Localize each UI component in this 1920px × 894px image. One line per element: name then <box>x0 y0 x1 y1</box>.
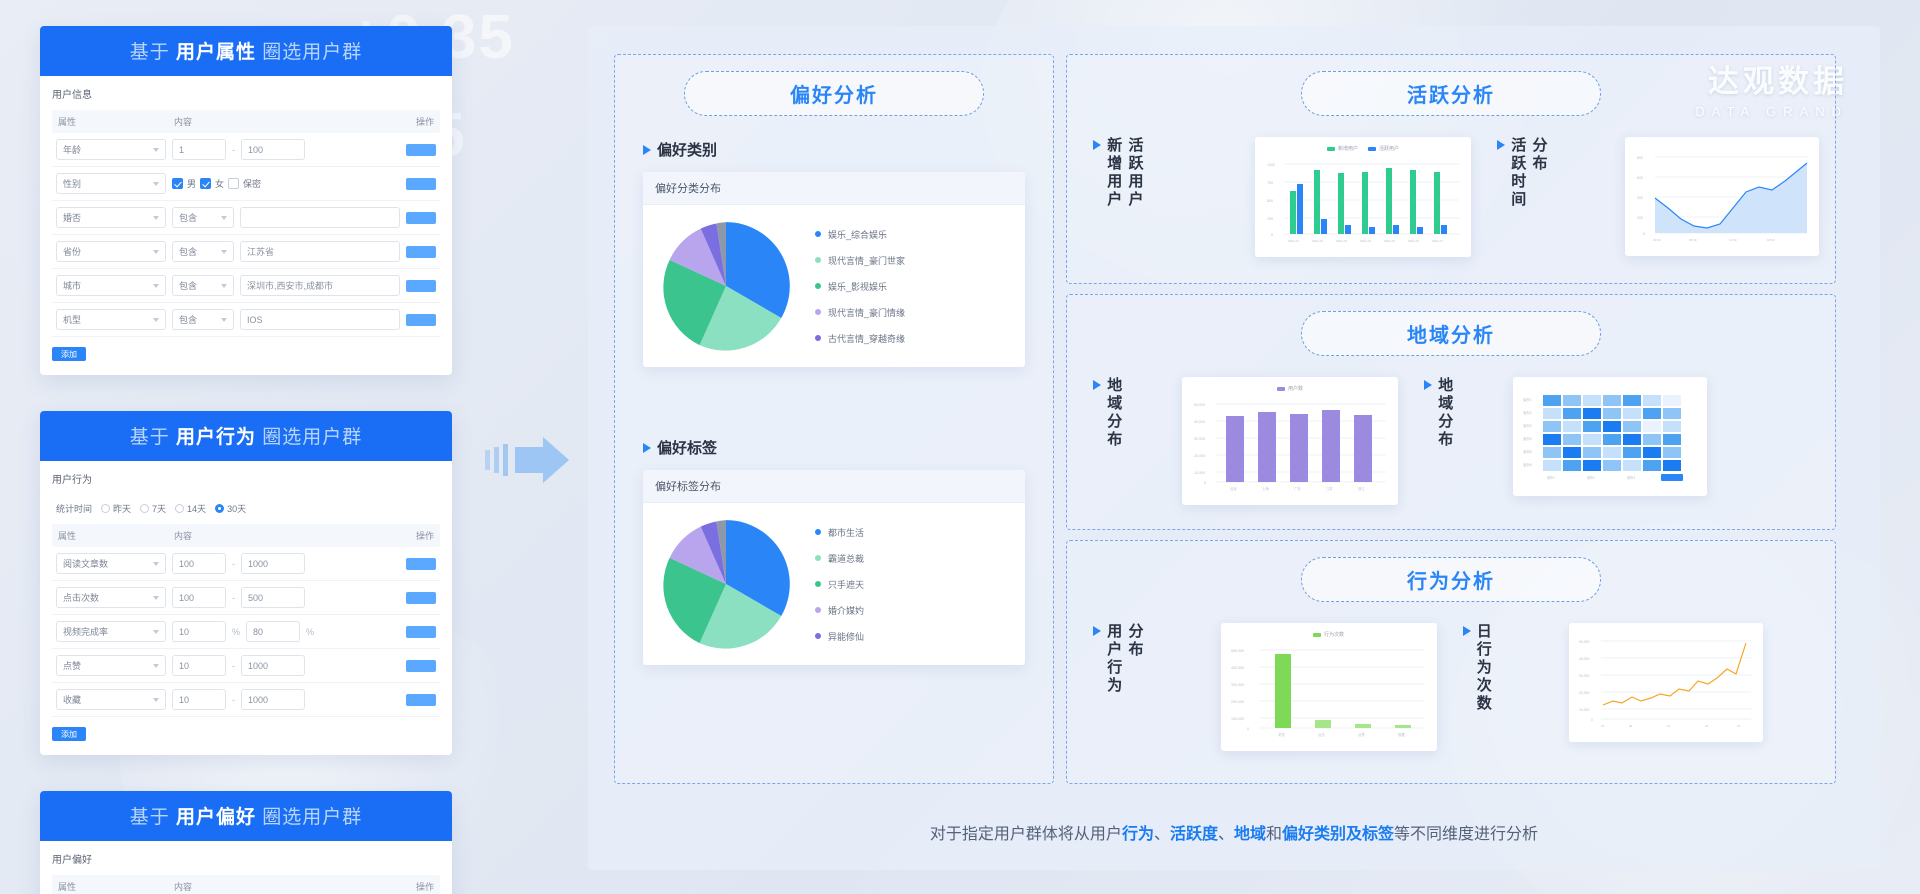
vertical-label-text: 地域分布 <box>1436 377 1453 449</box>
table-row: 视频完成率 10 % 80 % <box>52 615 440 649</box>
table-row: 婚否 包含 <box>52 201 440 235</box>
row-delete-button[interactable] <box>406 592 436 604</box>
footer-part-emphasis: 活跃度 <box>1170 826 1218 843</box>
area-chart-active-time: 800600 4002000 00:0006:00 12:0018:00 <box>1633 145 1811 245</box>
attribute-select[interactable]: 省份 <box>56 241 166 262</box>
legend-label: 异能修仙 <box>828 630 864 643</box>
svg-text:20,000: 20,000 <box>1579 691 1589 695</box>
row-delete-button[interactable] <box>406 212 436 224</box>
checkbox-checked-icon[interactable] <box>200 178 211 189</box>
attribute-select[interactable]: 性别 <box>56 173 166 194</box>
triangle-bullet-icon <box>1424 380 1432 390</box>
svg-text:2021-04: 2021-04 <box>1360 239 1371 243</box>
attribute-select[interactable]: 城市 <box>56 275 166 296</box>
legend-item: 异能修仙 <box>815 630 864 643</box>
triangle-bullet-icon <box>1093 626 1101 636</box>
column-header-attribute: 属性 <box>58 529 174 542</box>
attribute-select[interactable]: 机型 <box>56 309 166 330</box>
legend-item: 都市生活 <box>815 526 864 539</box>
svg-text:点击: 点击 <box>1318 732 1325 737</box>
panel-title-strong: 用户偏好 <box>176 807 256 828</box>
footer-part: 、 <box>1154 826 1170 843</box>
svg-text:省份3: 省份3 <box>1523 423 1532 428</box>
table-row: 点赞 10 - 1000 <box>52 649 440 683</box>
svg-text:750: 750 <box>1267 181 1273 185</box>
chart-legend: 都市生活 霸道总裁 只手遮天 婚介媒妁 异能修仙 <box>811 526 864 643</box>
section-region-analysis: 地域分析 地域分布 用户数 <box>1066 294 1836 530</box>
form-section-label: 用户行为 <box>52 471 440 486</box>
triangle-bullet-icon <box>1463 626 1471 636</box>
chart-legend: 新增用户 活跃用户 <box>1263 145 1463 152</box>
range-to-input[interactable]: 500 <box>241 587 305 608</box>
section-title-region: 地域分析 <box>1301 311 1601 356</box>
footer-part-emphasis: 地域 <box>1234 826 1266 843</box>
range-dash: - <box>232 593 235 603</box>
svg-text:0: 0 <box>1247 727 1249 731</box>
range-from-input[interactable]: 10 <box>172 689 226 710</box>
svg-text:浙江: 浙江 <box>1358 486 1365 491</box>
time-range-selector: 统计时间 昨天 7天 14天 30天 <box>52 495 440 524</box>
legend-label: 活跃用户 <box>1379 145 1399 152</box>
footer-part: 对于指定用户群体将从用户 <box>930 826 1122 843</box>
svg-text:50,000: 50,000 <box>1579 640 1589 644</box>
legend-label: 新增用户 <box>1338 145 1358 152</box>
radio-icon[interactable] <box>175 504 184 513</box>
legend-item: 行为次数 <box>1313 631 1344 638</box>
percent-unit: % <box>306 627 314 637</box>
svg-text:省份4: 省份4 <box>1523 436 1532 441</box>
vertical-label-text: 地域分布 <box>1105 377 1122 449</box>
time-range-label: 统计时间 <box>56 502 92 515</box>
operator-select[interactable]: 包含 <box>172 241 234 262</box>
triangle-bullet-icon <box>1093 380 1101 390</box>
svg-text:2021-05: 2021-05 <box>1384 239 1395 243</box>
table-header: 属性 内容 操作 <box>52 110 440 133</box>
form-section-label: 用户偏好 <box>52 851 440 866</box>
range-dash: - <box>232 695 235 705</box>
svg-text:06:00: 06:00 <box>1689 238 1697 242</box>
svg-text:省份1: 省份1 <box>1523 397 1532 402</box>
time-option[interactable]: 7天 <box>140 502 166 515</box>
operator-select[interactable]: 包含 <box>172 309 234 330</box>
svg-text:250: 250 <box>1267 217 1273 221</box>
svg-text:20,000: 20,000 <box>1194 454 1205 458</box>
triangle-bullet-icon <box>643 443 651 453</box>
row-delete-button[interactable] <box>406 314 436 326</box>
legend-label: 古代言情_穿越奇缘 <box>828 332 905 345</box>
attribute-select[interactable]: 收藏 <box>56 689 166 710</box>
table-row: 机型 包含 IOS <box>52 303 440 337</box>
svg-text:600: 600 <box>1637 176 1643 180</box>
range-to-input[interactable]: 80 <box>246 621 300 642</box>
subsection-heading-preference-tag: 偏好标签 <box>643 437 1025 458</box>
svg-text:城市1: 城市1 <box>1547 475 1555 480</box>
svg-text:10,000: 10,000 <box>1194 471 1205 475</box>
svg-text:50,000: 50,000 <box>1194 403 1205 407</box>
svg-text:0: 0 <box>1271 233 1273 237</box>
radio-icon[interactable] <box>101 504 110 513</box>
attribute-select[interactable]: 视频完成率 <box>56 621 166 642</box>
table-row: 年龄 1 - 100 <box>52 133 440 167</box>
legend-label: 现代言情_豪门世家 <box>828 254 905 267</box>
panel-title-suffix: 圈选用户群 <box>262 427 362 448</box>
panel-user-behavior: 基于 用户行为 圈选用户群 用户行为 统计时间 昨天 7天 14天 <box>40 411 452 755</box>
svg-text:800: 800 <box>1637 156 1643 160</box>
chart-block-active-time: 活跃时间 分布 800600 <box>1497 137 1819 257</box>
checkbox-group: 男 女 保密 <box>172 177 261 190</box>
vertical-label: 新增用户 活跃用户 <box>1093 137 1247 209</box>
row-delete-button[interactable] <box>406 178 436 190</box>
svg-text:2021-06: 2021-06 <box>1408 239 1419 243</box>
svg-text:1000: 1000 <box>1267 163 1275 167</box>
legend-item: 只手遮天 <box>815 578 864 591</box>
legend-item: 新增用户 <box>1327 145 1358 152</box>
value-input[interactable]: 江苏省 <box>240 241 400 262</box>
svg-text:400: 400 <box>1637 196 1643 200</box>
bar-chart-user-behavior: 500,000400,000 300,000200,000 100,0000 <box>1229 640 1429 740</box>
chart-block-daily-behavior: 日行为次数 50,00040,000 <box>1463 623 1763 751</box>
panel-body: 用户信息 属性 内容 操作 年龄 1 - 100 性别 男 女 <box>40 76 452 375</box>
card-new-active-users-chart: 新增用户 活跃用户 1000750 <box>1255 137 1471 257</box>
svg-text:2021-07: 2021-07 <box>1432 239 1443 243</box>
vertical-label: 地域分布 <box>1424 377 1505 449</box>
footer-part-emphasis: 行为 <box>1122 826 1154 843</box>
row-delete-button[interactable] <box>406 660 436 672</box>
subsection-label: 偏好标签 <box>657 437 717 458</box>
chart-block-user-behavior: 用户行为 分布 行为次数 <box>1093 623 1437 751</box>
table-header: 属性 内容 操作 <box>52 524 440 547</box>
svg-text:0: 0 <box>1204 481 1206 485</box>
row-delete-button[interactable] <box>406 246 436 258</box>
time-option-label: 昨天 <box>113 502 131 515</box>
svg-text:200: 200 <box>1637 216 1643 220</box>
range-from-input[interactable]: 10 <box>172 655 226 676</box>
svg-text:18:00: 18:00 <box>1767 238 1775 242</box>
radio-selected-icon[interactable] <box>215 504 224 513</box>
column-header-action: 操作 <box>390 529 434 542</box>
section-title-preference: 偏好分析 <box>684 71 984 116</box>
svg-text:31: 31 <box>1737 724 1741 728</box>
legend-item: 婚介媒妁 <box>815 604 864 617</box>
footer-part: 、 <box>1218 826 1234 843</box>
svg-text:收藏: 收藏 <box>1398 732 1405 737</box>
svg-text:2021-02: 2021-02 <box>1312 239 1323 243</box>
range-to-input[interactable]: 100 <box>241 139 305 160</box>
panel-title-suffix: 圈选用户群 <box>262 807 362 828</box>
legend-label: 用户数 <box>1288 385 1303 392</box>
column-header-attribute: 属性 <box>58 880 174 893</box>
panel-title-strong: 用户属性 <box>176 42 256 63</box>
svg-text:40,000: 40,000 <box>1579 657 1589 661</box>
table-row: 收藏 10 - 1000 <box>52 683 440 717</box>
legend-item: 霸道总裁 <box>815 552 864 565</box>
attribute-select[interactable]: 点击次数 <box>56 587 166 608</box>
triangle-bullet-icon <box>643 145 651 155</box>
chart-legend: 行为次数 <box>1229 631 1429 638</box>
svg-text:16: 16 <box>1667 724 1671 728</box>
legend-label: 行为次数 <box>1324 631 1344 638</box>
card-active-time-chart: 800600 4002000 00:0006:00 12:0018:00 <box>1625 137 1819 256</box>
heatmap-chart-region: 省份1省份2省份3 省份4省份5省份6 <box>1521 385 1699 485</box>
attribute-select[interactable]: 阅读文章数 <box>56 553 166 574</box>
range-to-input[interactable]: 1000 <box>241 689 305 710</box>
range-dash: - <box>232 661 235 671</box>
panel-header: 基于 用户偏好 圈选用户群 <box>40 791 452 841</box>
vertical-label-text: 日行为次数 <box>1475 623 1492 713</box>
time-option[interactable]: 14天 <box>175 502 206 515</box>
svg-text:省份6: 省份6 <box>1523 462 1532 467</box>
footer-part-emphasis: 偏好类别及标签 <box>1282 826 1394 843</box>
svg-text:2021-01: 2021-01 <box>1288 239 1299 243</box>
row-delete-button[interactable] <box>406 558 436 570</box>
pie-chart-preference-category <box>655 215 797 357</box>
range-from-input[interactable]: 100 <box>172 553 226 574</box>
svg-text:00:00: 00:00 <box>1653 238 1661 242</box>
legend-label: 现代言情_豪门情缘 <box>828 306 905 319</box>
vertical-label: 日行为次数 <box>1463 623 1561 713</box>
svg-text:08: 08 <box>1629 724 1633 728</box>
panel-title-strong: 用户行为 <box>176 427 256 448</box>
column-header-content: 内容 <box>174 115 390 128</box>
svg-text:24: 24 <box>1705 724 1709 728</box>
range-from-input[interactable]: 100 <box>172 587 226 608</box>
triangle-bullet-icon <box>1093 140 1101 150</box>
row-delete-button[interactable] <box>406 626 436 638</box>
add-condition-button[interactable]: 添加 <box>52 727 86 741</box>
triangle-bullet-icon <box>1497 140 1505 150</box>
footer-part: 和 <box>1266 826 1282 843</box>
section-activity-analysis: 活跃分析 新增用户 活跃用户 新增用户 活跃用户 <box>1066 54 1836 284</box>
panel-user-attributes: 基于 用户属性 圈选用户群 用户信息 属性 内容 操作 年龄 1 - 100 性… <box>40 26 452 375</box>
card-region-bar-chart: 用户数 50,00040,000 30,00020, <box>1182 377 1398 505</box>
flow-arrow <box>485 430 575 490</box>
vertical-label: 用户行为 分布 <box>1093 623 1213 695</box>
card-user-behavior-chart: 行为次数 500,000400,000 300,00 <box>1221 623 1437 751</box>
svg-text:城市3: 城市3 <box>1627 475 1635 480</box>
svg-text:广东: 广东 <box>1294 486 1301 491</box>
panel-user-preference: 基于 用户偏好 圈选用户群 用户偏好 属性 内容 操作 偏好类别 包含 历史× … <box>40 791 452 894</box>
checkbox-label: 保密 <box>243 177 261 190</box>
svg-text:江苏: 江苏 <box>1326 486 1333 491</box>
column-header-attribute: 属性 <box>58 115 174 128</box>
svg-text:500: 500 <box>1267 199 1273 203</box>
time-option-selected[interactable]: 30天 <box>215 502 246 515</box>
card-preference-category-chart: 偏好分类分布 娱乐_综合娱 <box>643 172 1025 367</box>
chart-block-region-bar: 地域分布 用户数 <box>1093 377 1398 505</box>
chart-body: 都市生活 霸道总裁 只手遮天 婚介媒妁 异能修仙 <box>643 503 1025 665</box>
svg-text:10,000: 10,000 <box>1579 708 1589 712</box>
row-delete-button[interactable] <box>406 144 436 156</box>
panel-title-prefix: 基于 <box>130 42 170 63</box>
operator-select[interactable]: 包含 <box>172 275 234 296</box>
svg-text:30,000: 30,000 <box>1579 674 1589 678</box>
legend-label: 娱乐_综合娱乐 <box>828 228 887 241</box>
column-header-content: 内容 <box>174 529 390 542</box>
table-row: 点击次数 100 - 500 <box>52 581 440 615</box>
checkbox-checked-icon[interactable] <box>172 178 183 189</box>
time-option-label: 7天 <box>152 502 166 515</box>
chart-legend: 用户数 <box>1190 385 1390 392</box>
svg-text:省份2: 省份2 <box>1523 410 1532 415</box>
legend-item: 娱乐_综合娱乐 <box>815 228 905 241</box>
vertical-label-text: 活跃时间 <box>1509 137 1526 209</box>
legend-item: 用户数 <box>1277 385 1303 392</box>
column-header-action: 操作 <box>390 880 434 893</box>
vertical-label-text: 用户行为 <box>1105 623 1122 695</box>
footer-description: 对于指定用户群体将从用户行为、活跃度、地域和偏好类别及标签等不同维度进行分析 <box>588 820 1880 844</box>
pie-chart-preference-tag <box>655 513 797 655</box>
svg-text:0: 0 <box>1591 718 1593 722</box>
legend-item: 娱乐_影视娱乐 <box>815 280 905 293</box>
legend-label: 霸道总裁 <box>828 552 864 565</box>
value-input[interactable] <box>240 207 400 228</box>
chart-title: 偏好标签分布 <box>643 470 1025 503</box>
card-daily-behavior-chart: 50,00040,000 30,00020,000 10,0000 0108 1… <box>1569 623 1763 742</box>
svg-text:40,000: 40,000 <box>1194 420 1205 424</box>
section-behavior-analysis: 行为分析 用户行为 分布 行为次数 <box>1066 540 1836 784</box>
panel-header: 基于 用户行为 圈选用户群 <box>40 411 452 461</box>
chart-legend: 娱乐_综合娱乐 现代言情_豪门世家 娱乐_影视娱乐 现代言情_豪门情缘 古代言情… <box>811 228 905 345</box>
footer-part: 等不同维度进行分析 <box>1394 826 1538 843</box>
section-preference-analysis: 偏好分析 偏好类别 偏好分类分布 <box>614 54 1054 784</box>
legend-item: 现代言情_豪门世家 <box>815 254 905 267</box>
section-title-activity: 活跃分析 <box>1301 71 1601 116</box>
panel-body: 用户偏好 属性 内容 操作 偏好类别 包含 历史× 国际× 军事× 偏好标签 包… <box>40 841 452 894</box>
range-dash: - <box>232 559 235 569</box>
vertical-label-text-2: 活跃用户 <box>1126 137 1143 209</box>
svg-text:200,000: 200,000 <box>1231 700 1244 704</box>
legend-label: 婚介媒妁 <box>828 604 864 617</box>
svg-text:省份5: 省份5 <box>1523 449 1532 454</box>
legend-label: 娱乐_影视娱乐 <box>828 280 887 293</box>
range-from-input[interactable]: 1 <box>172 139 226 160</box>
panel-body: 用户行为 统计时间 昨天 7天 14天 30天 <box>40 461 452 755</box>
panel-title-suffix: 圈选用户群 <box>262 42 362 63</box>
card-region-heatmap: 省份1省份2省份3 省份4省份5省份6 <box>1513 377 1707 496</box>
percent-unit: % <box>232 627 240 637</box>
svg-text:12:00: 12:00 <box>1729 238 1737 242</box>
svg-text:北京: 北京 <box>1230 486 1237 491</box>
bar-chart-region: 50,00040,000 30,00020,000 10,0000 <box>1190 394 1390 494</box>
vertical-label: 活跃时间 分布 <box>1497 137 1617 209</box>
chart-block-region-heatmap: 地域分布 省份1省份2省份3 省份4省份5省份6 <box>1424 377 1707 505</box>
svg-text:浏览: 浏览 <box>1278 732 1285 737</box>
attribute-select[interactable]: 点赞 <box>56 655 166 676</box>
attribute-select[interactable]: 婚否 <box>56 207 166 228</box>
time-option-label: 30天 <box>227 502 246 515</box>
vertical-label-text-2: 分布 <box>1530 137 1547 173</box>
operator-select[interactable]: 包含 <box>172 207 234 228</box>
panel-title-prefix: 基于 <box>130 807 170 828</box>
svg-text:01: 01 <box>1601 724 1605 728</box>
column-header-content: 内容 <box>174 880 390 893</box>
attribute-select[interactable]: 年龄 <box>56 139 166 160</box>
row-delete-button[interactable] <box>406 694 436 706</box>
analysis-board: 达观数据 DATA GRAND 偏好分析 偏好类别 偏好分类分布 <box>588 26 1880 870</box>
bar-chart-new-active-users: 1000750 5002500 <box>1263 154 1463 246</box>
svg-text:0: 0 <box>1643 232 1645 236</box>
table-row: 城市 包含 深圳市,西安市,成都市 <box>52 269 440 303</box>
add-condition-button[interactable]: 添加 <box>52 347 86 361</box>
legend-label: 只手遮天 <box>828 578 864 591</box>
range-to-input[interactable]: 1000 <box>241 655 305 676</box>
legend-item: 活跃用户 <box>1368 145 1399 152</box>
value-input[interactable]: IOS <box>240 309 400 330</box>
criteria-panel-column: 基于 用户属性 圈选用户群 用户信息 属性 内容 操作 年龄 1 - 100 性… <box>40 26 452 894</box>
row-delete-button[interactable] <box>406 280 436 292</box>
table-row: 省份 包含 江苏省 <box>52 235 440 269</box>
radio-icon[interactable] <box>140 504 149 513</box>
range-dash: - <box>232 145 235 155</box>
card-preference-tag-chart: 偏好标签分布 都市生活 <box>643 470 1025 665</box>
svg-text:点赞: 点赞 <box>1358 732 1365 737</box>
time-option[interactable]: 昨天 <box>101 502 131 515</box>
svg-text:2021-03: 2021-03 <box>1336 239 1347 243</box>
chart-title: 偏好分类分布 <box>643 172 1025 205</box>
legend-item: 现代言情_豪门情缘 <box>815 306 905 319</box>
svg-text:500,000: 500,000 <box>1231 649 1244 653</box>
subsection-label: 偏好类别 <box>657 139 717 160</box>
svg-text:100,000: 100,000 <box>1231 717 1244 721</box>
section-title-behavior: 行为分析 <box>1301 557 1601 602</box>
panel-title-prefix: 基于 <box>130 427 170 448</box>
time-option-label: 14天 <box>187 502 206 515</box>
range-to-input[interactable]: 1000 <box>241 553 305 574</box>
form-section-label: 用户信息 <box>52 86 440 101</box>
subsection-heading-preference-category: 偏好类别 <box>643 139 1025 160</box>
svg-text:300,000: 300,000 <box>1231 683 1244 687</box>
panel-header: 基于 用户属性 圈选用户群 <box>40 26 452 76</box>
svg-text:400,000: 400,000 <box>1231 666 1244 670</box>
checkbox-label: 女 <box>215 177 224 190</box>
table-row: 性别 男 女 保密 <box>52 167 440 201</box>
chart-body: 娱乐_综合娱乐 现代言情_豪门世家 娱乐_影视娱乐 现代言情_豪门情缘 古代言情… <box>643 205 1025 367</box>
checkbox-icon[interactable] <box>228 178 239 189</box>
column-header-action: 操作 <box>390 115 434 128</box>
checkbox-label: 男 <box>187 177 196 190</box>
legend-item: 古代言情_穿越奇缘 <box>815 332 905 345</box>
svg-text:上海: 上海 <box>1262 486 1269 491</box>
vertical-label: 地域分布 <box>1093 377 1174 449</box>
vertical-label-text: 新增用户 <box>1105 137 1122 209</box>
legend-label: 都市生活 <box>828 526 864 539</box>
vertical-label-text-2: 分布 <box>1126 623 1143 659</box>
table-row: 阅读文章数 100 - 1000 <box>52 547 440 581</box>
value-input[interactable]: 深圳市,西安市,成都市 <box>240 275 400 296</box>
svg-text:城市2: 城市2 <box>1587 475 1595 480</box>
range-from-input[interactable]: 10 <box>172 621 226 642</box>
line-chart-daily-behavior: 50,00040,000 30,00020,000 10,0000 0108 1… <box>1577 631 1755 731</box>
chart-block-new-active-users: 新增用户 活跃用户 新增用户 活跃用户 <box>1093 137 1471 257</box>
svg-text:30,000: 30,000 <box>1194 437 1205 441</box>
table-header: 属性 内容 操作 <box>52 875 440 894</box>
